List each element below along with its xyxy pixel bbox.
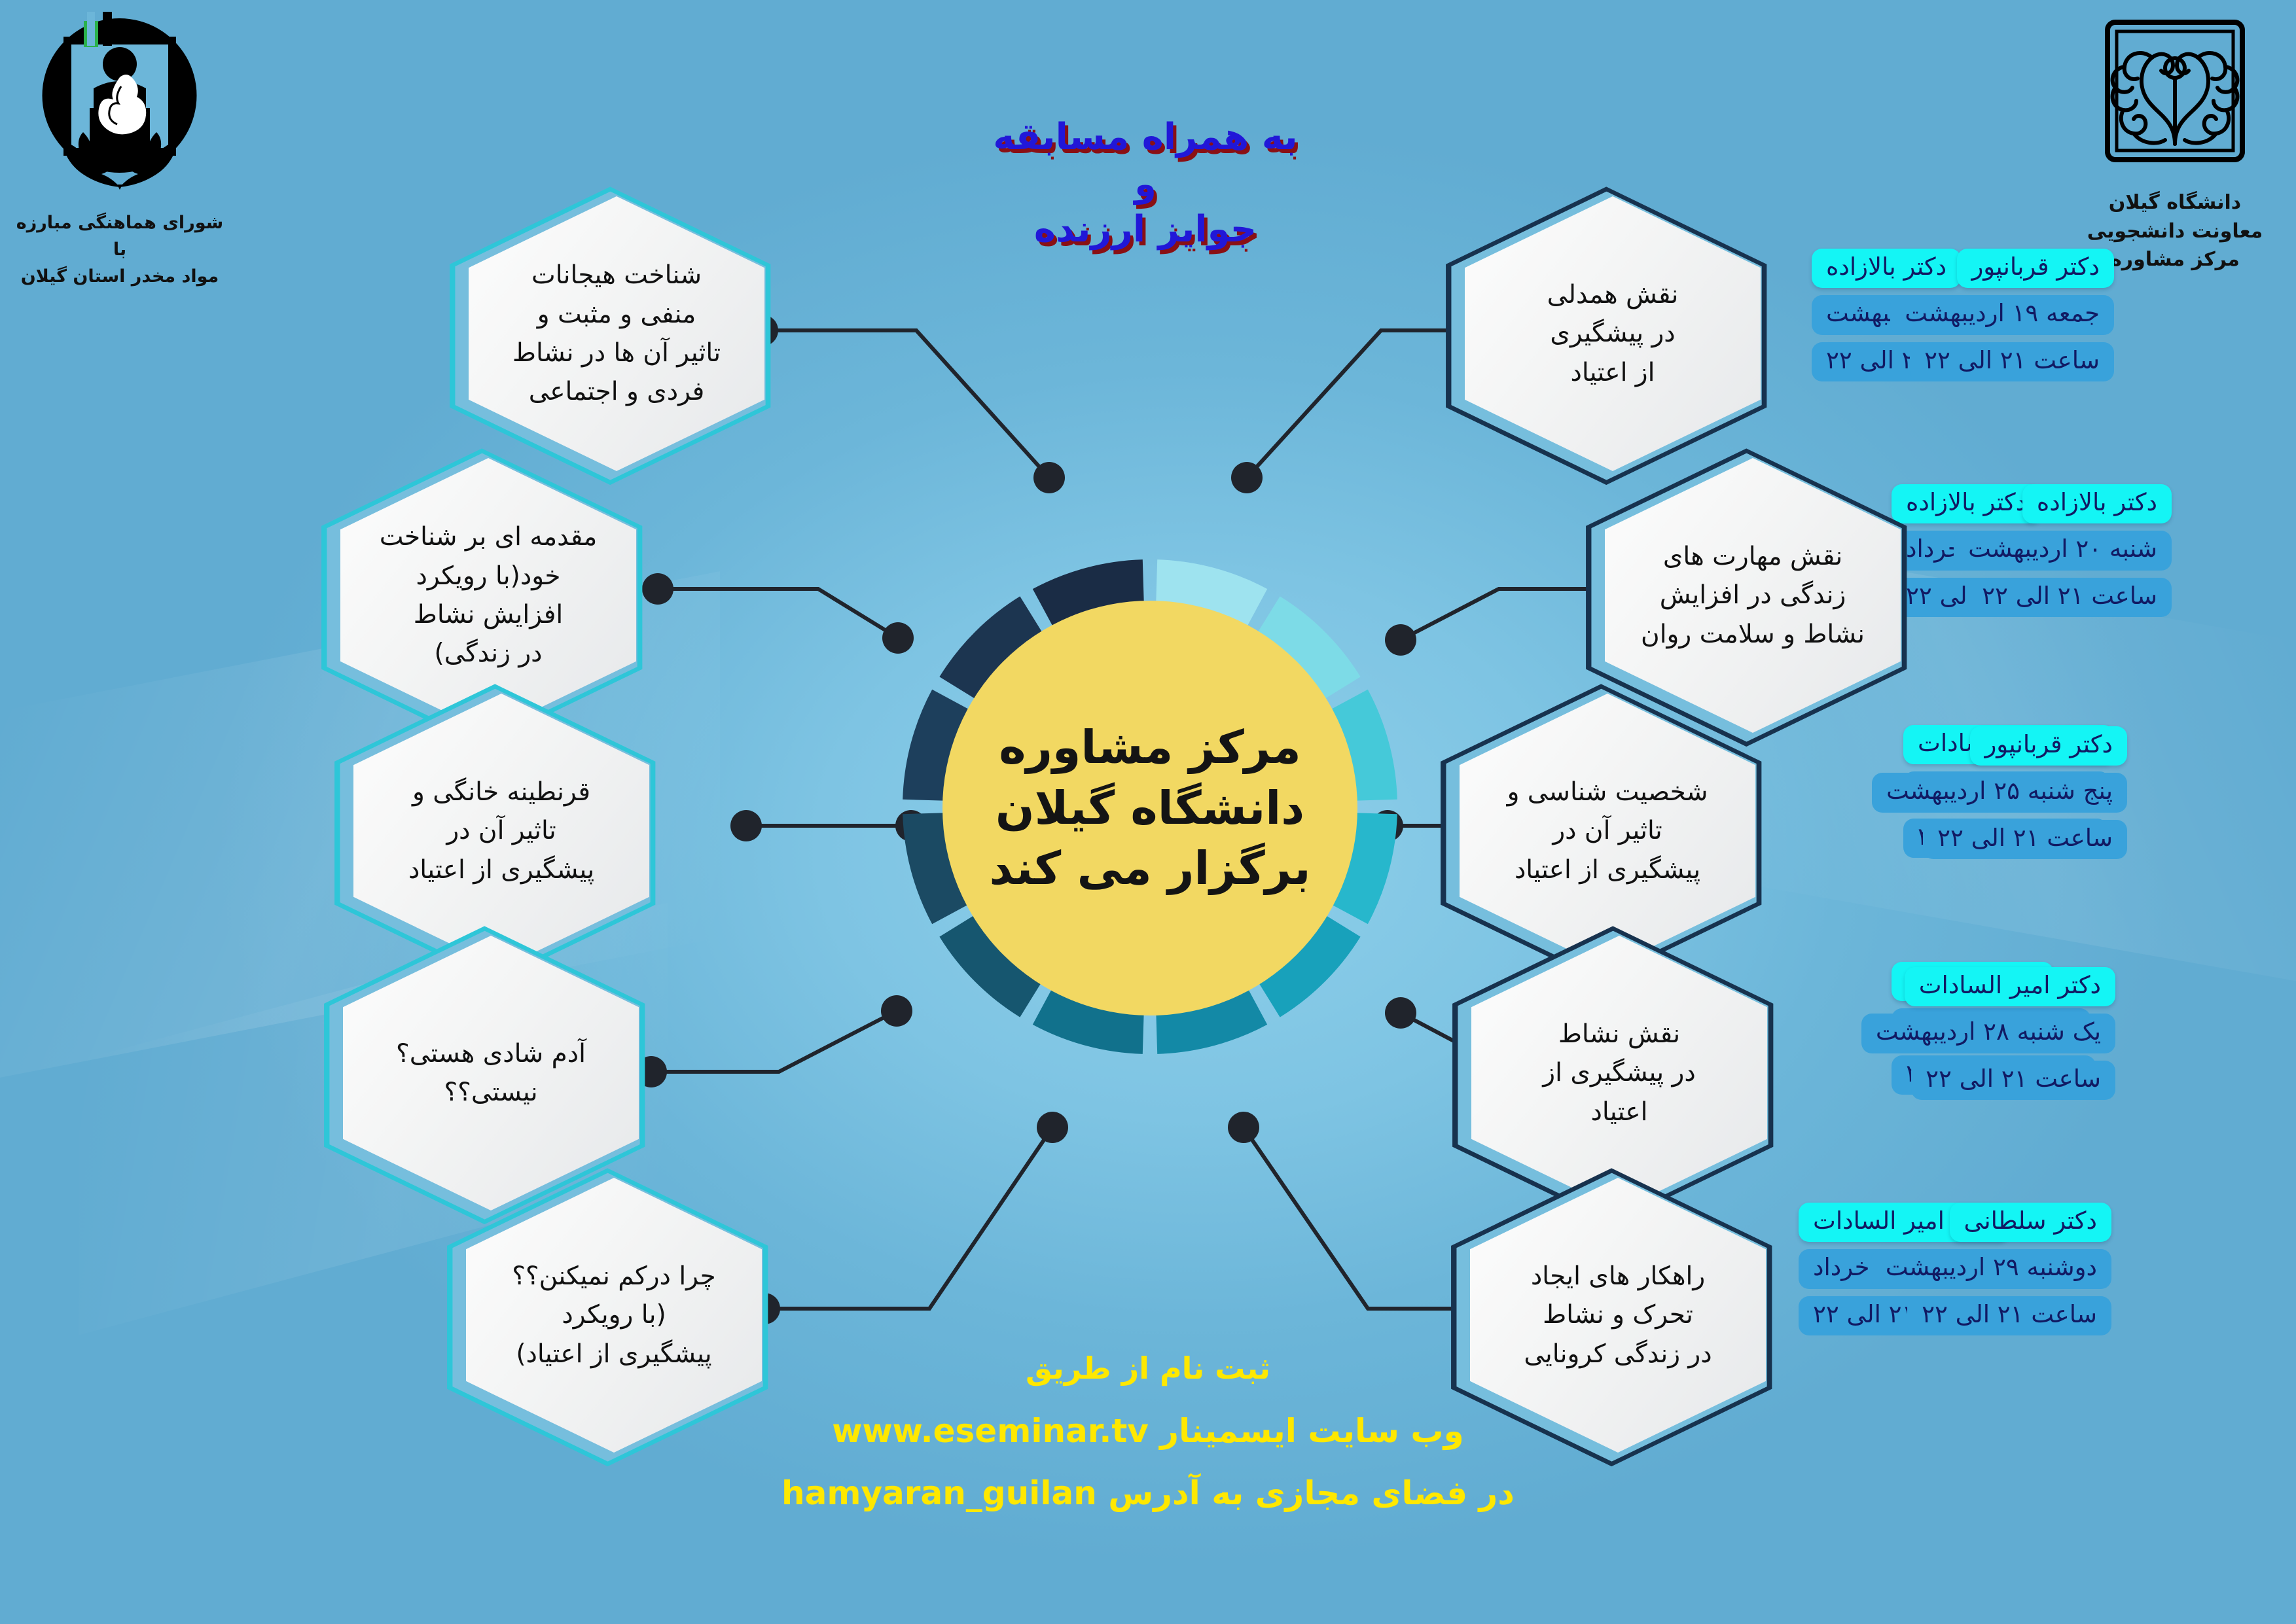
topic-line-2: تاثیر آن در [446,813,556,849]
presenter-badge: دکتر امیر السادات [1905,967,2115,1006]
topic-line-3: اعتیاد [1591,1094,1648,1130]
topic-line-1: نقش مهارت های [1663,538,1842,574]
headline-line-3: جوایز ارزنده [936,210,1355,249]
time-badge: ساعت ۲۱ الی ۲۲ [1907,1296,2111,1335]
topic-line-1: شناخت هیجانات [531,257,702,293]
topic-line-1: مقدمه ای بر شناخت [380,519,598,555]
logo-right-caption-line1: دانشگاه گیلان [2067,188,2283,217]
hexagon-topic-text: شخصیت شناسی وتاثیر آن درپیشگیری از اعتیا… [1460,694,1755,968]
session-hexagon-right-3[interactable]: شخصیت شناسی وتاثیر آن درپیشگیری از اعتیا… [1460,694,1755,968]
topic-line-1: آدم شادی هستی؟ [396,1036,586,1072]
time-badge: ساعت ۲۱ الی ۲۲ [1923,820,2127,859]
topic-line-2: منفی و مثبت و [537,296,696,332]
time-badge: ساعت ۲۱ الی ۲۲ [1911,1061,2115,1100]
session-info-right-1: دکتر قربانپورجمعه ۱۹ اردیبهشتساعت ۲۱ الی… [1826,249,2114,381]
topic-line-2: تحرک و نشاط [1543,1297,1693,1333]
footer-line-1: ثبت نام از طریق [592,1348,1704,1389]
date-badge: شنبه ۲۰ اردیبهشت [1954,531,2172,570]
topic-line-1: قرنطینه خانگی و [412,774,590,810]
topic-line-4: فردی و اجتماعی [529,374,705,410]
center-title-circle: مرکز مشاوره دانشگاه گیلان برگزار می کند [942,601,1357,1015]
connector-dot [642,573,673,605]
headline-line-2: و [936,166,1355,203]
headline-line-1: به همراه مسابقه [936,118,1355,156]
session-hexagon-left-1[interactable]: شناخت هیجاناتمنفی و مثبت وتاثیر آن ها در… [469,196,764,471]
hexagon-topic-text: قرنطینه خانگی وتاثیر آن درپیشگیری از اعت… [353,694,649,968]
topic-line-3: تاثیر آن ها در نشاط [512,335,721,371]
footer-line-3: در فضای مجازی به آدرس hamyaran_guilan [592,1471,1704,1516]
presenter-badge: دکتر بالازاده [2022,484,2172,523]
topic-line-3: نشاط و سلامت روان [1641,616,1865,652]
topic-line-3: پیشگیری از اعتیاد [1515,852,1700,888]
center-title-line-1: مرکز مشاوره [999,720,1301,775]
center-title-line-2: دانشگاه گیلان [996,781,1304,836]
footer-social-label: در فضای مجازی به آدرس [1108,1474,1515,1512]
session-info-right-2: دکتر بالازادهشنبه ۲۰ اردیبهشتساعت ۲۱ الی… [1884,484,2172,617]
topic-line-2: خود(با رویکرد [416,558,561,594]
hexagon-topic-text: شناخت هیجاناتمنفی و مثبت وتاثیر آن ها در… [469,196,764,471]
footer-website-url[interactable]: www.eseminar.tv [832,1409,1149,1454]
topic-line-4: در زندگی) [434,635,542,671]
connector-dot [1231,462,1263,493]
date-badge: دوشنبه ۲۹ اردیبهشت [1871,1249,2111,1288]
presenter-badge: دکتر سلطانی [1950,1203,2111,1242]
presenter-badge: دکتر قربانپور [1970,726,2127,766]
topic-line-3: افزایش نشاط [414,597,563,633]
date-badge: پنج شنبه ۲۵ اردیبهشت [1872,773,2127,812]
footer-website-label: وب سایت ایسمینار [1160,1412,1463,1450]
topic-line-1: نقش همدلی [1547,277,1679,313]
connector-dot [1033,462,1065,493]
topic-line-2: در پیشگیری از [1543,1055,1695,1091]
session-hexagon-left-3[interactable]: قرنطینه خانگی وتاثیر آن درپیشگیری از اعت… [353,694,649,968]
guilan-university-emblem-icon [2093,16,2257,179]
date-badge: جمعه ۱۹ اردیبهشت [1890,295,2114,334]
presenter-badge: دکتر قربانپور [1957,249,2114,288]
promo-headline: به همراه مسابقه و جوایز ارزنده [936,118,1355,249]
session-hexagon-right-1[interactable]: نقش همدلیدر پیشگیریاز اعتیاد [1465,196,1761,471]
session-hexagon-left-4[interactable]: آدم شادی هستی؟نیستی؟؟ [343,936,639,1210]
topic-line-2: (با رویکرد [562,1297,666,1333]
logo-right-caption-line2: معاونت دانشجویی [2067,217,2283,246]
logo-left-caption-line2: مواد مخدر استان گیلان [12,263,228,290]
footer-line-2: وب سایت ایسمینار www.eseminar.tv [592,1409,1704,1454]
hexagon-topic-text: آدم شادی هستی؟نیستی؟؟ [343,936,639,1210]
registration-footer: ثبت نام از طریق وب سایت ایسمینار www.ese… [592,1348,1704,1516]
poster-canvas: شورای هماهنگی مبارزه با مواد مخدر استان … [0,0,2296,1624]
topic-line-3: از اعتیاد [1571,355,1655,391]
connector-dot [1037,1112,1068,1143]
logo-left-caption-line1: شورای هماهنگی مبارزه با [12,209,228,263]
topic-line-2: در پیشگیری [1550,315,1675,351]
session-info-right-4: دکتر امیر الساداتیک شنبه ۲۸ اردیبهشتساعت… [1827,967,2115,1100]
anti-narcotics-council-logo: شورای هماهنگی مبارزه با مواد مخدر استان … [12,7,228,290]
time-badge: ساعت ۲۱ الی ۲۲ [1910,342,2114,381]
hexagon-topic-text: نقش مهارت هایزندگی در افزایشنشاط و سلامت… [1605,458,1901,733]
topic-line-2: تاثیر آن در [1552,813,1662,849]
topic-line-1: چرا درکم نمیکنن؟؟ [512,1258,716,1294]
time-badge: ساعت ۲۱ الی ۲۲ [1967,578,2172,617]
date-badge: یک شنبه ۲۸ اردیبهشت [1861,1014,2115,1053]
hexagon-topic-text: نقش نشاطدر پیشگیری ازاعتیاد [1471,936,1767,1210]
torch-laurel-emblem-icon [22,7,218,203]
topic-line-1: شخصیت شناسی و [1507,774,1708,810]
topic-line-1: راهکار های ایجاد [1531,1258,1705,1294]
session-hexagon-right-2[interactable]: نقش مهارت هایزندگی در افزایشنشاط و سلامت… [1605,458,1901,733]
topic-line-2: نیستی؟؟ [444,1074,537,1110]
connector-dot [730,810,762,841]
topic-line-2: زندگی در افزایش [1660,577,1846,613]
connector-dot [1228,1112,1259,1143]
session-info-right-5: دکتر سلطانیدوشنبه ۲۹ اردیبهشتساعت ۲۱ الی… [1823,1203,2111,1335]
footer-social-handle[interactable]: hamyaran_guilan [781,1471,1097,1516]
topic-line-1: نقش نشاط [1558,1016,1680,1052]
guilan-university-logo: دانشگاه گیلان معاونت دانشجویی مرکز مشاور… [2067,16,2283,274]
session-hexagon-right-4[interactable]: نقش نشاطدر پیشگیری ازاعتیاد [1471,936,1767,1210]
topic-line-3: پیشگیری از اعتیاد [408,852,594,888]
hexagon-topic-text: نقش همدلیدر پیشگیریاز اعتیاد [1465,196,1761,471]
center-title-line-3: برگزار می کند [990,841,1311,896]
session-info-right-3: دکتر قربانپورپنج شنبه ۲۵ اردیبهشتساعت ۲۱… [1839,726,2127,859]
